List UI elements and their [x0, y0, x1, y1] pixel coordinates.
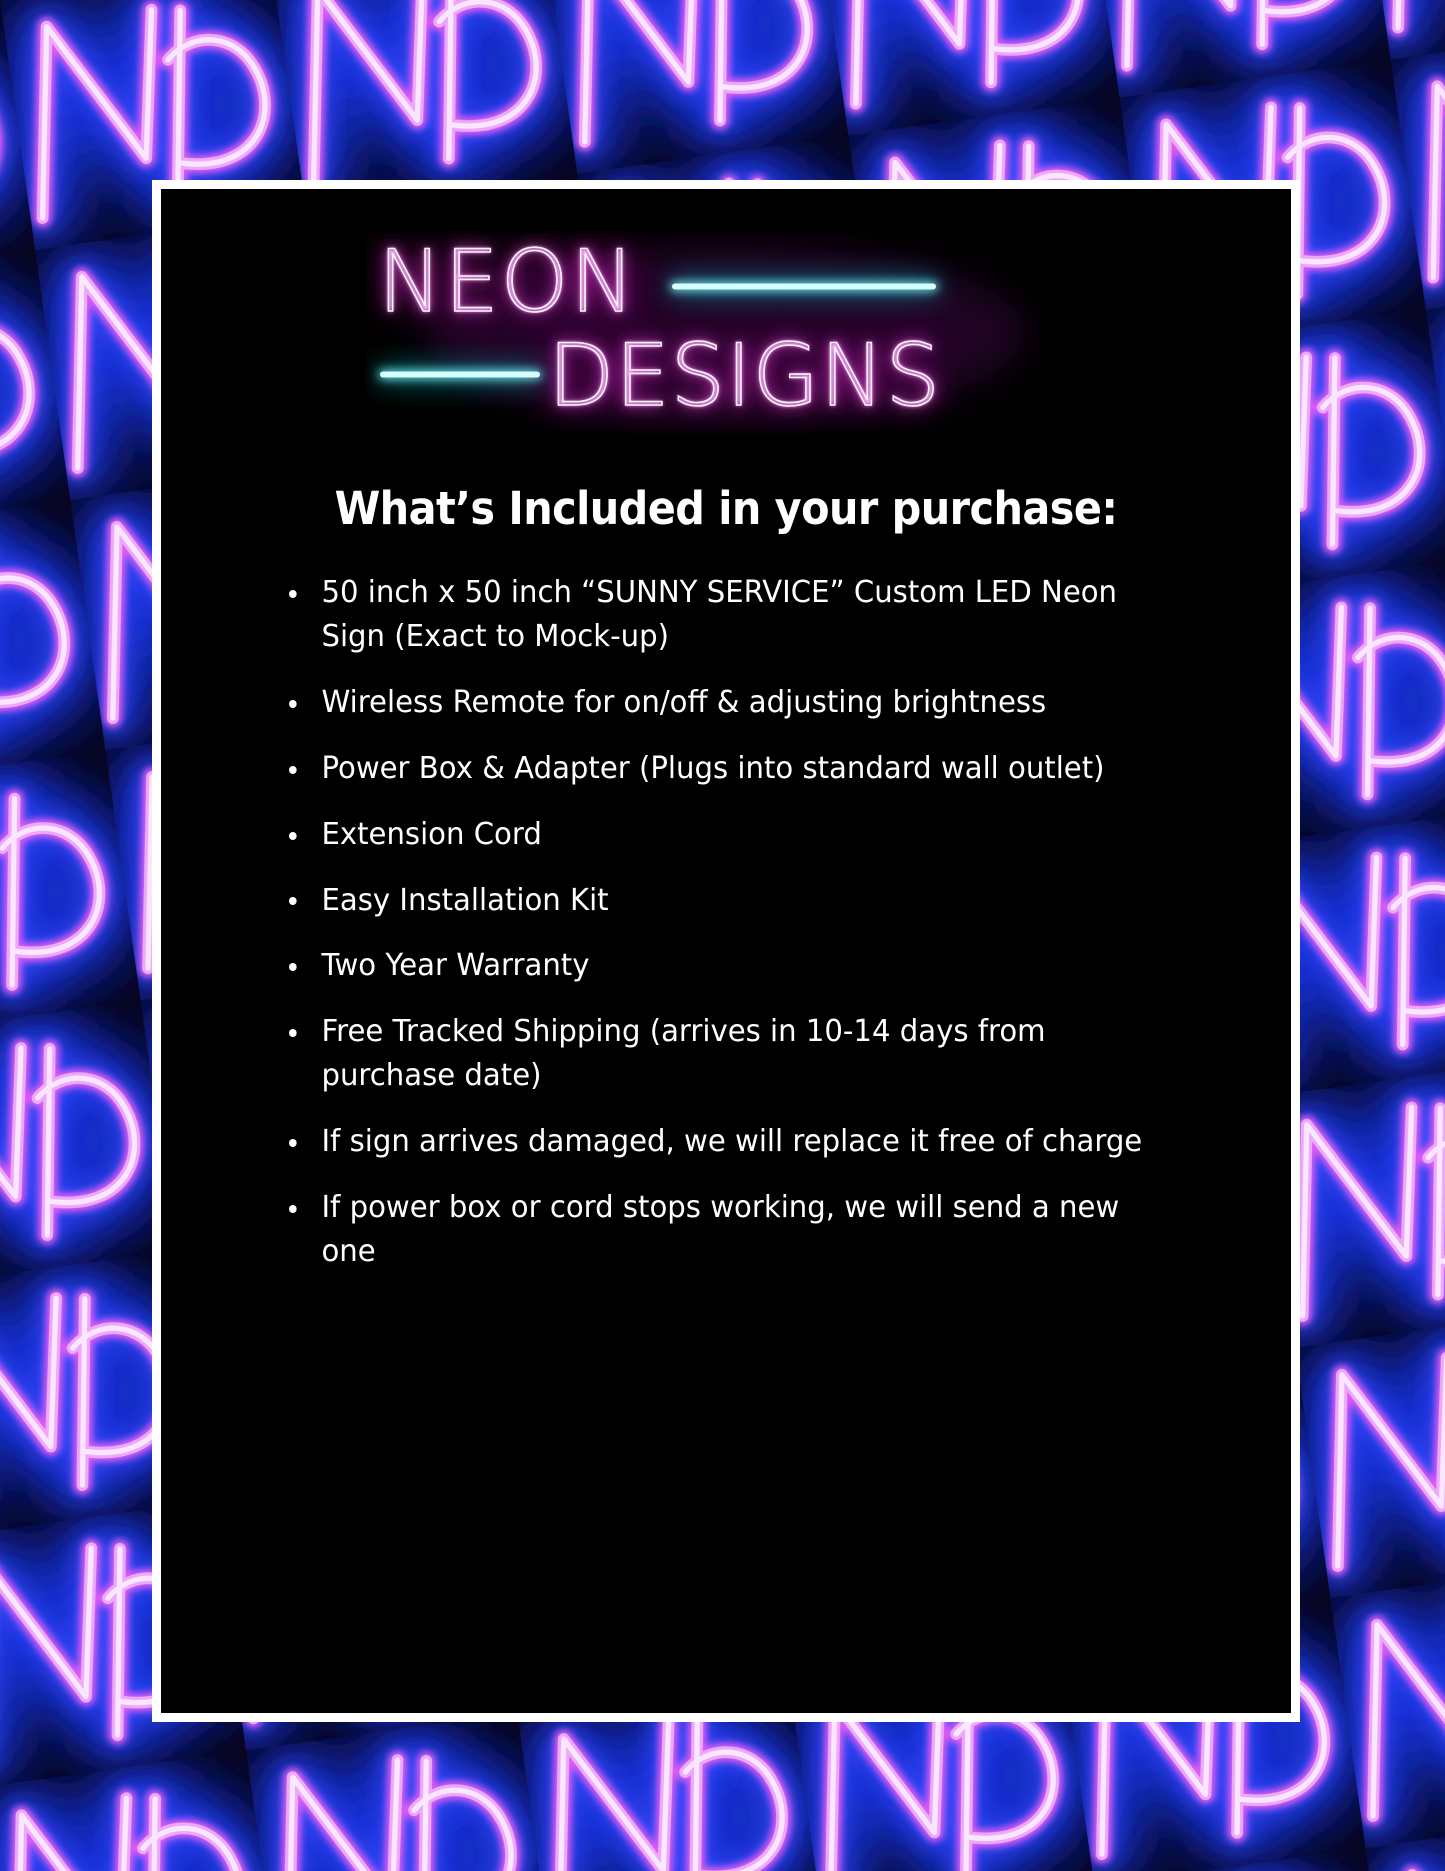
bullet-dot-icon [289, 590, 297, 598]
included-items-list: 50 inch x 50 inch “SUNNY SERVICE” Custom… [289, 571, 1194, 1274]
bullet-dot-icon [289, 1205, 297, 1213]
list-item-label: Power Box & Adapter (Plugs into standard… [321, 751, 1104, 786]
bullet-dot-icon [289, 897, 297, 905]
bullet-dot-icon [289, 766, 297, 774]
black-card: NEON NEON NEON NEON [161, 189, 1291, 1713]
list-item-label: If power box or cord stops working, we w… [321, 1190, 1119, 1269]
page-title: What’s Included in your purchase: [206, 485, 1246, 532]
list-item-label: If sign arrives damaged, we will replace… [321, 1124, 1142, 1159]
list-item-label: Two Year Warranty [321, 948, 589, 983]
svg-text:NEON: NEON [378, 233, 637, 332]
bullet-dot-icon [289, 832, 297, 840]
neon-designs-logo: NEON NEON NEON NEON [161, 233, 1291, 443]
bullet-dot-icon [289, 700, 297, 708]
bullet-dot-icon [289, 1029, 297, 1037]
list-item-label: Extension Cord [321, 817, 541, 852]
list-item: Wireless Remote for on/off & adjusting b… [289, 681, 1153, 725]
list-item-label: Free Tracked Shipping (arrives in 10-14 … [321, 1014, 1045, 1093]
white-frame-border: NEON NEON NEON NEON [152, 180, 1300, 1722]
list-item: Power Box & Adapter (Plugs into standard… [289, 747, 1153, 791]
page-root: NEON NEON NEON NEON [0, 0, 1445, 1871]
bullet-dot-icon [289, 963, 297, 971]
bullet-dot-icon [289, 1139, 297, 1147]
logo-word-neon: NEON NEON NEON NEON [378, 233, 637, 332]
list-item: Extension Cord [289, 813, 1153, 857]
list-item-label: Easy Installation Kit [321, 883, 608, 918]
cyan-bar-top [670, 282, 938, 291]
list-item: Free Tracked Shipping (arrives in 10-14 … [289, 1010, 1153, 1098]
cyan-bar-bottom [378, 370, 542, 379]
list-item: If power box or cord stops working, we w… [289, 1186, 1153, 1274]
logo-svg: NEON NEON NEON NEON [366, 233, 1086, 433]
list-item: 50 inch x 50 inch “SUNNY SERVICE” Custom… [289, 571, 1153, 659]
list-item-label: 50 inch x 50 inch “SUNNY SERVICE” Custom… [321, 575, 1117, 654]
list-item-label: Wireless Remote for on/off & adjusting b… [321, 685, 1046, 720]
logo-word-designs: DESIGNS DESIGNS DESIGNS DESIGNS [548, 326, 941, 426]
list-item: Easy Installation Kit [289, 879, 1153, 923]
list-item: If sign arrives damaged, we will replace… [289, 1120, 1153, 1164]
svg-text:DESIGNS: DESIGNS [548, 326, 941, 426]
list-item: Two Year Warranty [289, 944, 1153, 988]
